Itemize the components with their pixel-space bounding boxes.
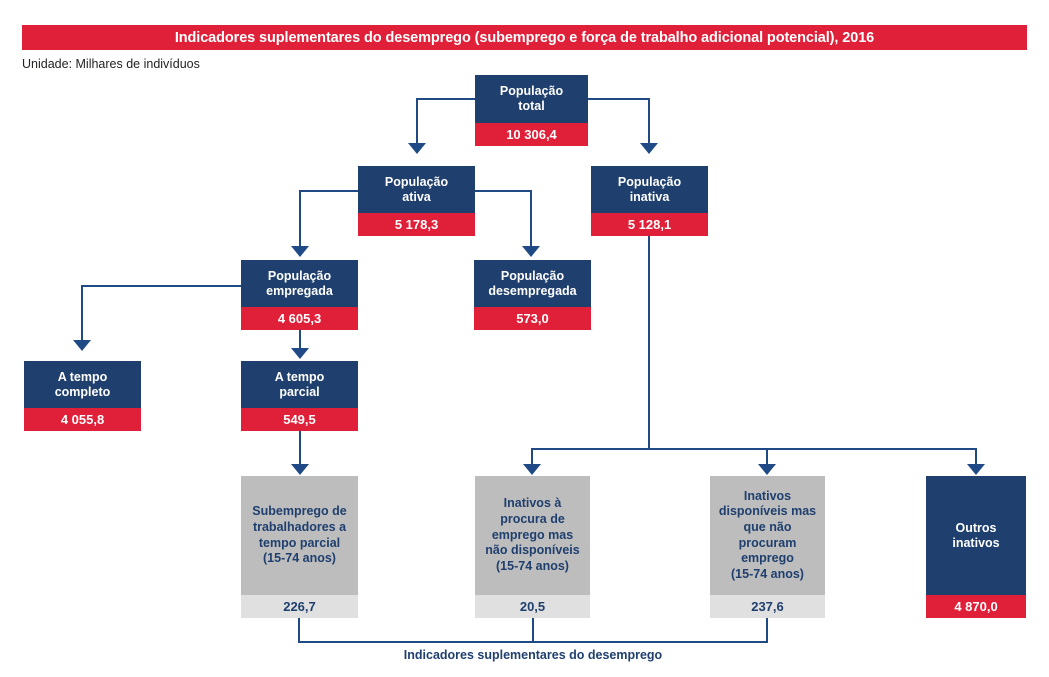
node-label-line1: População	[500, 84, 563, 99]
node-label-line4: não disponíveis	[485, 543, 579, 559]
node-label-line3: que não	[744, 520, 792, 536]
arrow-parcial-to-subemprego	[291, 464, 309, 475]
node-tempo-parcial-header: A tempo parcial	[241, 361, 358, 408]
node-inativos-procura-value: 20,5	[475, 595, 590, 618]
arrow-total-to-inativa	[640, 143, 658, 154]
node-label-line2: inativa	[630, 190, 670, 205]
node-subemprego[interactable]: Subemprego de trabalhadores a tempo parc…	[241, 476, 358, 618]
node-label-line5: (15-74 anos)	[496, 559, 569, 575]
bracket-bus	[298, 641, 768, 643]
node-populacao-inativa-header: População inativa	[591, 166, 708, 213]
node-outros-inativos[interactable]: Outros inativos 4 870,0	[926, 476, 1026, 618]
node-label-line1: Inativos à	[504, 496, 562, 512]
connector-total-to-inativa	[648, 98, 650, 143]
bracket-stem-disponiveis	[766, 618, 768, 643]
node-populacao-ativa-value: 5 178,3	[358, 213, 475, 236]
node-populacao-inativa-value: 5 128,1	[591, 213, 708, 236]
arrow-ativa-to-desempregada	[522, 246, 540, 257]
node-label-line2: procura de	[500, 512, 565, 528]
arrow-ativa-to-empregada	[291, 246, 309, 257]
node-tempo-completo-header: A tempo completo	[24, 361, 141, 408]
node-label-line2: parcial	[279, 385, 319, 400]
node-outros-inativos-header: Outros inativos	[926, 476, 1026, 595]
bracket-stem-procura	[532, 618, 534, 643]
node-label-line3: tempo parcial	[259, 536, 340, 552]
node-subemprego-value: 226,7	[241, 595, 358, 618]
node-inativos-procura-header: Inativos à procura de emprego mas não di…	[475, 476, 590, 595]
connector-ativa-to-empregada	[299, 190, 301, 246]
bracket-stem-subemprego	[298, 618, 300, 643]
node-label-line1: Subemprego de	[252, 504, 346, 520]
node-tempo-completo[interactable]: A tempo completo 4 055,8	[24, 361, 141, 431]
connector-inativa-to-disponiveis	[766, 448, 768, 464]
arrow-inativa-to-procura	[523, 464, 541, 475]
connector-inativa-bus	[531, 448, 977, 450]
connector-ativa-to-desempregada	[530, 190, 532, 246]
node-label-line5: emprego	[741, 551, 794, 567]
node-inativos-disponiveis-header: Inativos disponíveis mas que não procura…	[710, 476, 825, 595]
node-label-line2: desempregada	[488, 284, 576, 299]
connector-inativa-trunk	[648, 232, 650, 450]
node-populacao-inativa[interactable]: População inativa 5 128,1	[591, 166, 708, 236]
node-label-line2: inativos	[952, 536, 999, 551]
connector-empregada-to-parcial	[299, 330, 301, 348]
node-label-line1: População	[385, 175, 448, 190]
node-label-line2: empregada	[266, 284, 333, 299]
node-label-line3: emprego mas	[492, 528, 573, 544]
connector-inativa-to-procura	[531, 448, 533, 464]
bracket-label: Indicadores suplementares do desemprego	[283, 648, 783, 662]
node-tempo-parcial[interactable]: A tempo parcial 549,5	[241, 361, 358, 431]
node-label-line1: População	[268, 269, 331, 284]
arrow-empregada-to-parcial	[291, 348, 309, 359]
node-populacao-empregada-header: População empregada	[241, 260, 358, 307]
connector-total-to-ativa	[416, 98, 418, 143]
connector-empregada-bus	[81, 285, 246, 287]
node-label-line1: Inativos	[744, 489, 791, 505]
node-populacao-ativa[interactable]: População ativa 5 178,3	[358, 166, 475, 236]
node-label-line2: trabalhadores a	[253, 520, 346, 536]
node-tempo-completo-value: 4 055,8	[24, 408, 141, 431]
node-label-line1: A tempo	[275, 370, 325, 385]
node-tempo-parcial-value: 549,5	[241, 408, 358, 431]
node-populacao-empregada-value: 4 605,3	[241, 307, 358, 330]
arrow-inativa-to-outros	[967, 464, 985, 475]
node-label-line4: procuram	[739, 536, 797, 552]
node-label-line2: ativa	[402, 190, 431, 205]
node-populacao-desempregada-value: 573,0	[474, 307, 591, 330]
node-inativos-disponiveis-value: 237,6	[710, 595, 825, 618]
unit-label: Unidade: Milhares de indivíduos	[22, 57, 200, 71]
connector-empregada-to-completo	[81, 285, 83, 340]
node-populacao-empregada[interactable]: População empregada 4 605,3	[241, 260, 358, 330]
arrow-total-to-ativa	[408, 143, 426, 154]
node-populacao-total-value: 10 306,4	[475, 123, 588, 146]
node-label-line1: População	[501, 269, 564, 284]
node-label-line6: (15-74 anos)	[731, 567, 804, 583]
arrow-empregada-to-completo	[73, 340, 91, 351]
node-label-line1: A tempo	[58, 370, 108, 385]
node-populacao-ativa-header: População ativa	[358, 166, 475, 213]
page-title: Indicadores suplementares do desemprego …	[22, 25, 1027, 50]
node-label-line1: Outros	[956, 521, 997, 536]
arrow-inativa-to-disponiveis	[758, 464, 776, 475]
connector-inativa-to-outros	[975, 448, 977, 464]
node-populacao-desempregada[interactable]: População desempregada 573,0	[474, 260, 591, 330]
node-outros-inativos-value: 4 870,0	[926, 595, 1026, 618]
node-label-line2: completo	[55, 385, 111, 400]
node-label-line1: População	[618, 175, 681, 190]
node-inativos-procura[interactable]: Inativos à procura de emprego mas não di…	[475, 476, 590, 618]
diagram-canvas: Indicadores suplementares do desemprego …	[0, 0, 1049, 677]
node-inativos-disponiveis[interactable]: Inativos disponíveis mas que não procura…	[710, 476, 825, 618]
node-populacao-total-header: População total	[475, 75, 588, 123]
node-label-line2: disponíveis mas	[719, 504, 816, 520]
node-subemprego-header: Subemprego de trabalhadores a tempo parc…	[241, 476, 358, 595]
node-populacao-total[interactable]: População total 10 306,4	[475, 75, 588, 146]
node-label-line2: total	[518, 99, 544, 114]
node-populacao-desempregada-header: População desempregada	[474, 260, 591, 307]
node-label-line4: (15-74 anos)	[263, 551, 336, 567]
